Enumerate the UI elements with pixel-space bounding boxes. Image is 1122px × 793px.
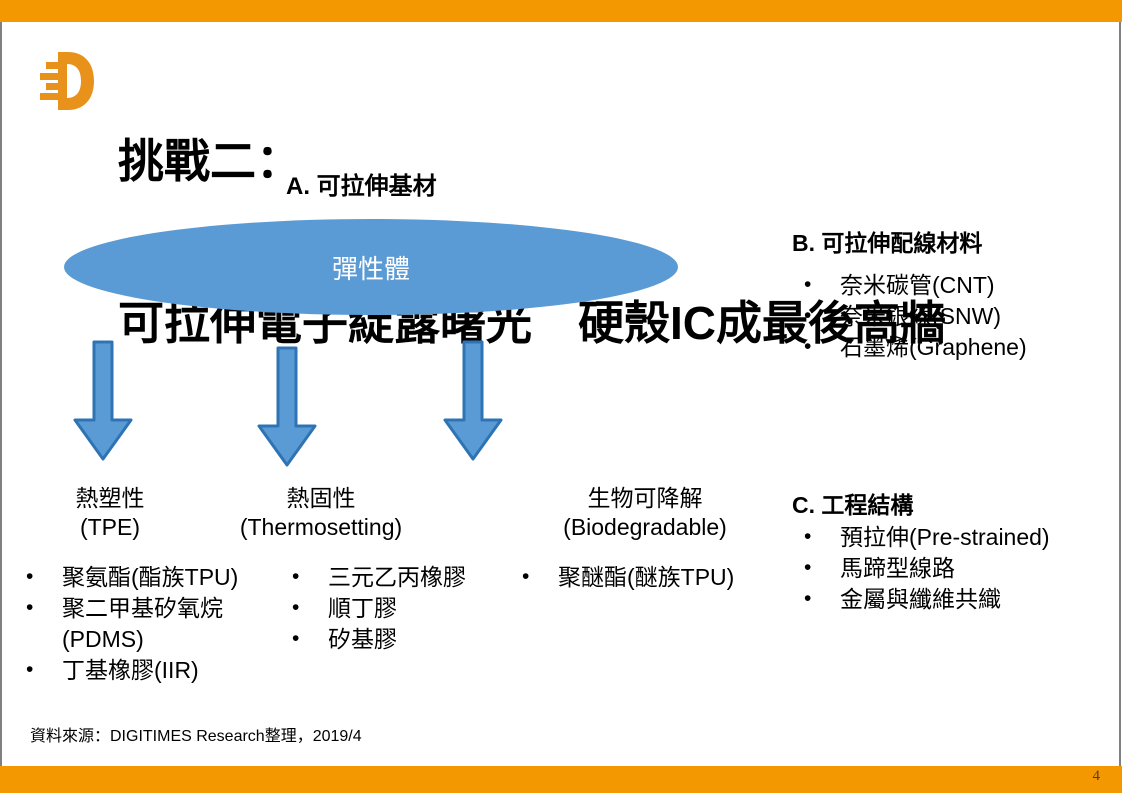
section-b-label: B. 可拉伸配線材料 [792, 224, 982, 258]
list-item: 金屬與纖維共織 [800, 584, 1110, 615]
list-item: 聚氨酯(酯族TPU) [22, 562, 292, 593]
section-b-bullet-list: 奈米碳管(CNT) 奈米銀線(SNW) 石墨烯(Graphene) [800, 270, 1100, 363]
column-2-heading: 熱固性 (Thermosetting) [196, 484, 446, 542]
down-arrow-icon [442, 340, 504, 467]
column-3-heading-line-1: 生物可降解 [505, 484, 785, 513]
column-1-heading: 熱塑性 (TPE) [10, 484, 210, 542]
left-edge-rule [0, 22, 2, 766]
top-accent-bar [0, 0, 1122, 22]
right-edge-rule [1119, 22, 1121, 766]
list-item: 奈米碳管(CNT) [800, 270, 1100, 301]
list-item: 丁基橡膠(IIR) [22, 655, 292, 686]
slide: 挑戰二： 可拉伸電子綻露曙光 硬殼IC成最後高牆 A. 可拉伸基材 彈性體 熱塑… [0, 0, 1122, 793]
list-item: 矽基膠 [288, 624, 518, 655]
list-item: (PDMS) [22, 624, 292, 655]
column-2-bullet-list: 三元乙丙橡膠 順丁膠 矽基膠 [288, 562, 518, 655]
column-2-heading-line-2: (Thermosetting) [196, 513, 446, 542]
list-item: 石墨烯(Graphene) [800, 332, 1100, 363]
column-2-heading-line-1: 熱固性 [196, 484, 446, 513]
column-3-heading-line-2: (Biodegradable) [505, 513, 785, 542]
list-item: 三元乙丙橡膠 [288, 562, 518, 593]
section-c-bullet-list: 預拉伸(Pre-strained) 馬蹄型線路 金屬與纖維共織 [800, 522, 1110, 615]
down-arrow-icon [72, 340, 134, 467]
page-number: 4 [1093, 768, 1101, 785]
list-item: 馬蹄型線路 [800, 553, 1110, 584]
source-note: 資料來源：DIGITIMES Research整理，2019/4 [30, 722, 362, 746]
column-3-bullet-list: 聚醚酯(醚族TPU) [518, 562, 788, 593]
column-1-heading-line-2: (TPE) [10, 513, 210, 542]
bottom-accent-bar [0, 766, 1122, 793]
down-arrow-icon [256, 346, 318, 473]
list-item: 預拉伸(Pre-strained) [800, 522, 1110, 553]
column-3-heading: 生物可降解 (Biodegradable) [505, 484, 785, 542]
title-line-1: 挑戰二： [118, 134, 1108, 188]
list-item: 聚醚酯(醚族TPU) [518, 562, 788, 593]
elastomer-ellipse: 彈性體 [64, 219, 678, 315]
column-1-bullet-list: 聚氨酯(酯族TPU) 聚二甲基矽氧烷 (PDMS) 丁基橡膠(IIR) [22, 562, 292, 686]
section-a-label: A. 可拉伸基材 [286, 166, 437, 201]
list-item: 聚二甲基矽氧烷 [22, 593, 292, 624]
list-item: 奈米銀線(SNW) [800, 301, 1100, 332]
section-c-label: C. 工程結構 [792, 486, 913, 520]
digitimes-d-logo-icon [38, 50, 96, 112]
elastomer-ellipse-label: 彈性體 [64, 219, 678, 315]
list-item: 順丁膠 [288, 593, 518, 624]
column-1-heading-line-1: 熱塑性 [10, 484, 210, 513]
